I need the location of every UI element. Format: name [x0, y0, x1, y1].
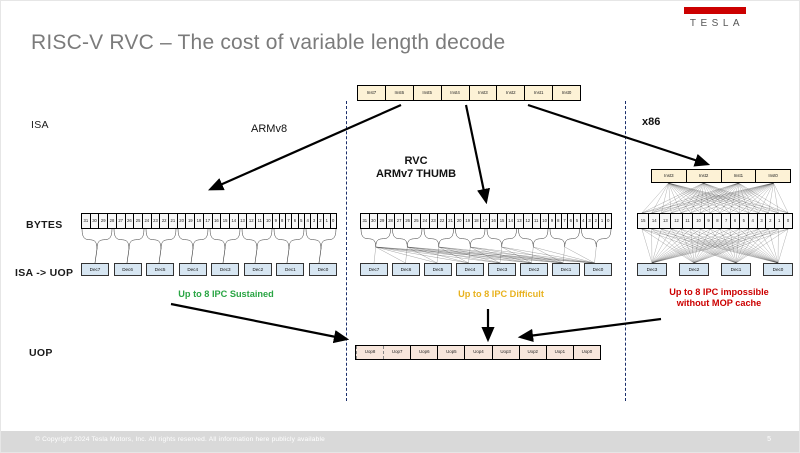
cell: 8 [713, 214, 722, 228]
decoder-box: Dec5 [424, 263, 452, 276]
cell: 0 [784, 214, 792, 228]
cell: 10 [264, 214, 273, 228]
cell: 13 [660, 214, 671, 228]
decoder-box: Dec7 [81, 263, 109, 276]
cell: 21 [447, 214, 456, 228]
decoder-box: Dec6 [114, 263, 142, 276]
decoder-box: Dec2 [244, 263, 272, 276]
cell: 3 [758, 214, 767, 228]
instruction-strip-top: Inst7Inst6Inst5Inst4Inst3Inst2Inst1Inst0 [357, 85, 581, 101]
cell: 15 [498, 214, 507, 228]
cell: 17 [204, 214, 213, 228]
caption-x86-ipc-line1: Up to 8 IPC impossible [639, 287, 799, 298]
cell: Inst3 [652, 170, 687, 182]
cell: 0 [331, 214, 336, 228]
cell: Uop8 [356, 346, 384, 359]
row-label-uop: UOP [29, 347, 53, 359]
cell: 28 [108, 214, 117, 228]
footer-copyright: © Copyright 2024 Tesla Motors, Inc. All … [35, 436, 325, 443]
cell: 27 [117, 214, 126, 228]
cell: 1 [775, 214, 784, 228]
cell: Uop6 [411, 346, 438, 359]
byte-strip-x86: 1514131211109876543210 [637, 213, 793, 229]
decoder-box: Dec3 [488, 263, 516, 276]
cell: 13 [239, 214, 248, 228]
cell: 14 [507, 214, 516, 228]
cell: 17 [481, 214, 490, 228]
cell: 11 [533, 214, 541, 228]
tesla-logo: TESLA [682, 7, 748, 29]
cell: 23 [430, 214, 439, 228]
cell: 10 [541, 214, 550, 228]
decoder-box: Dec7 [360, 263, 388, 276]
cell: 26 [126, 214, 135, 228]
page-title: RISC-V RVC – The cost of variable length… [31, 31, 505, 55]
cell: 10 [693, 214, 704, 228]
cell: Inst2 [687, 170, 722, 182]
cell: Uop2 [520, 346, 547, 359]
cell: Inst0 [553, 86, 580, 100]
row-label-isa-to-uop: ISA -> UOP [15, 267, 73, 279]
cell: 18 [473, 214, 482, 228]
decoder-box: Dec0 [309, 263, 337, 276]
column-heading-x86: x86 [642, 116, 660, 128]
column-heading-armv8: ARMv8 [251, 123, 287, 135]
row-label-isa: ISA [31, 119, 49, 131]
cell: 24 [143, 214, 152, 228]
cell: Inst5 [414, 86, 442, 100]
caption-x86-ipc: Up to 8 IPC impossible without MOP cache [639, 287, 799, 309]
column-heading-rvc: RVC ARMv7 THUMB [361, 155, 471, 181]
cell: Uop0 [574, 346, 600, 359]
decoder-box: Dec3 [637, 263, 667, 276]
cell: Inst1 [525, 86, 553, 100]
cell: 30 [91, 214, 100, 228]
tesla-wordmark: TESLA [682, 18, 748, 29]
column-heading-rvc-line2: ARMv7 THUMB [361, 168, 471, 181]
cell: 15 [638, 214, 649, 228]
cell: 4 [749, 214, 758, 228]
cell: 14 [649, 214, 660, 228]
cell: Uop3 [493, 346, 520, 359]
cell: 11 [683, 214, 694, 228]
cell: Inst4 [442, 86, 470, 100]
divider-left [346, 101, 347, 401]
cell: Inst1 [722, 170, 757, 182]
decoder-row-armv8: Dec7Dec6Dec5Dec4Dec3Dec2Dec1Dec0 [81, 263, 337, 276]
decoder-box: Dec4 [179, 263, 207, 276]
decoder-box: Dec0 [584, 263, 612, 276]
cell: Inst2 [497, 86, 525, 100]
cell: 11 [256, 214, 264, 228]
cell: 28 [387, 214, 396, 228]
cell: 6 [731, 214, 740, 228]
cell: 15 [221, 214, 230, 228]
decoder-box: Dec0 [763, 263, 793, 276]
cell: 13 [515, 214, 524, 228]
cell: 23 [152, 214, 161, 228]
cell: Uop4 [465, 346, 492, 359]
cell: Uop7 [384, 346, 411, 359]
cell: 0 [606, 214, 611, 228]
cell: Uop5 [438, 346, 465, 359]
cell: 16 [213, 214, 222, 228]
decoder-box: Dec3 [211, 263, 239, 276]
cell: 24 [421, 214, 430, 228]
cell: 29 [378, 214, 387, 228]
decoder-box: Dec2 [679, 263, 709, 276]
cell: 12 [671, 214, 682, 228]
cell: 25 [412, 214, 421, 228]
cell: 9 [705, 214, 714, 228]
cell: Inst3 [470, 86, 498, 100]
cell: 16 [490, 214, 499, 228]
decoder-row-rvc: Dec7Dec6Dec5Dec4Dec3Dec2Dec1Dec0 [360, 263, 612, 276]
cell: Uop1 [547, 346, 574, 359]
cell: 27 [395, 214, 404, 228]
slide-footer: © Copyright 2024 Tesla Motors, Inc. All … [1, 431, 800, 452]
row-label-bytes: BYTES [26, 219, 63, 231]
cell: Inst0 [756, 170, 790, 182]
decoder-box: Dec6 [392, 263, 420, 276]
cell: 2 [766, 214, 775, 228]
cell: 25 [134, 214, 143, 228]
cell: 22 [438, 214, 447, 228]
cell: 20 [178, 214, 187, 228]
cell: 21 [169, 214, 178, 228]
slide-canvas: TESLA RISC-V RVC – The cost of variable … [0, 0, 800, 453]
caption-x86-ipc-line2: without MOP cache [639, 298, 799, 309]
cell: 7 [722, 214, 731, 228]
decoder-box: Dec1 [721, 263, 751, 276]
decoder-box: Dec1 [552, 263, 580, 276]
byte-strip-armv8: 3130292827262524232221201918171615141312… [81, 213, 337, 229]
cell: 31 [82, 214, 91, 228]
tesla-logo-bar [684, 7, 746, 14]
cell: 22 [160, 214, 169, 228]
uop-strip: Uop8Uop7Uop6Uop5Uop4Uop3Uop2Uop1Uop0 [355, 345, 601, 360]
cell: 26 [404, 214, 413, 228]
cell: 31 [361, 214, 370, 228]
column-heading-rvc-line1: RVC [361, 155, 471, 168]
cell: Inst7 [358, 86, 386, 100]
cell: 12 [524, 214, 533, 228]
cell: 29 [99, 214, 108, 228]
decoder-box: Dec1 [276, 263, 304, 276]
decoder-row-x86: Dec3Dec2Dec1Dec0 [637, 263, 793, 276]
cell: 12 [247, 214, 256, 228]
cell: 30 [370, 214, 379, 228]
byte-strip-rvc: 3130292827262524232221201918171615141312… [360, 213, 612, 229]
cell: 18 [195, 214, 204, 228]
instruction-strip-x86: Inst3Inst2Inst1Inst0 [651, 169, 791, 183]
cell: Inst6 [386, 86, 414, 100]
footer-page-number: 5 [767, 436, 771, 443]
divider-right [625, 101, 626, 401]
cell: 19 [186, 214, 195, 228]
caption-armv8-ipc: Up to 8 IPC Sustained [121, 289, 331, 300]
cell: 20 [455, 214, 464, 228]
caption-rvc-ipc: Up to 8 IPC Difficult [401, 289, 601, 300]
decoder-box: Dec5 [146, 263, 174, 276]
cell: 19 [464, 214, 473, 228]
cell: 14 [230, 214, 239, 228]
decoder-box: Dec2 [520, 263, 548, 276]
cell: 5 [740, 214, 749, 228]
decoder-box: Dec4 [456, 263, 484, 276]
